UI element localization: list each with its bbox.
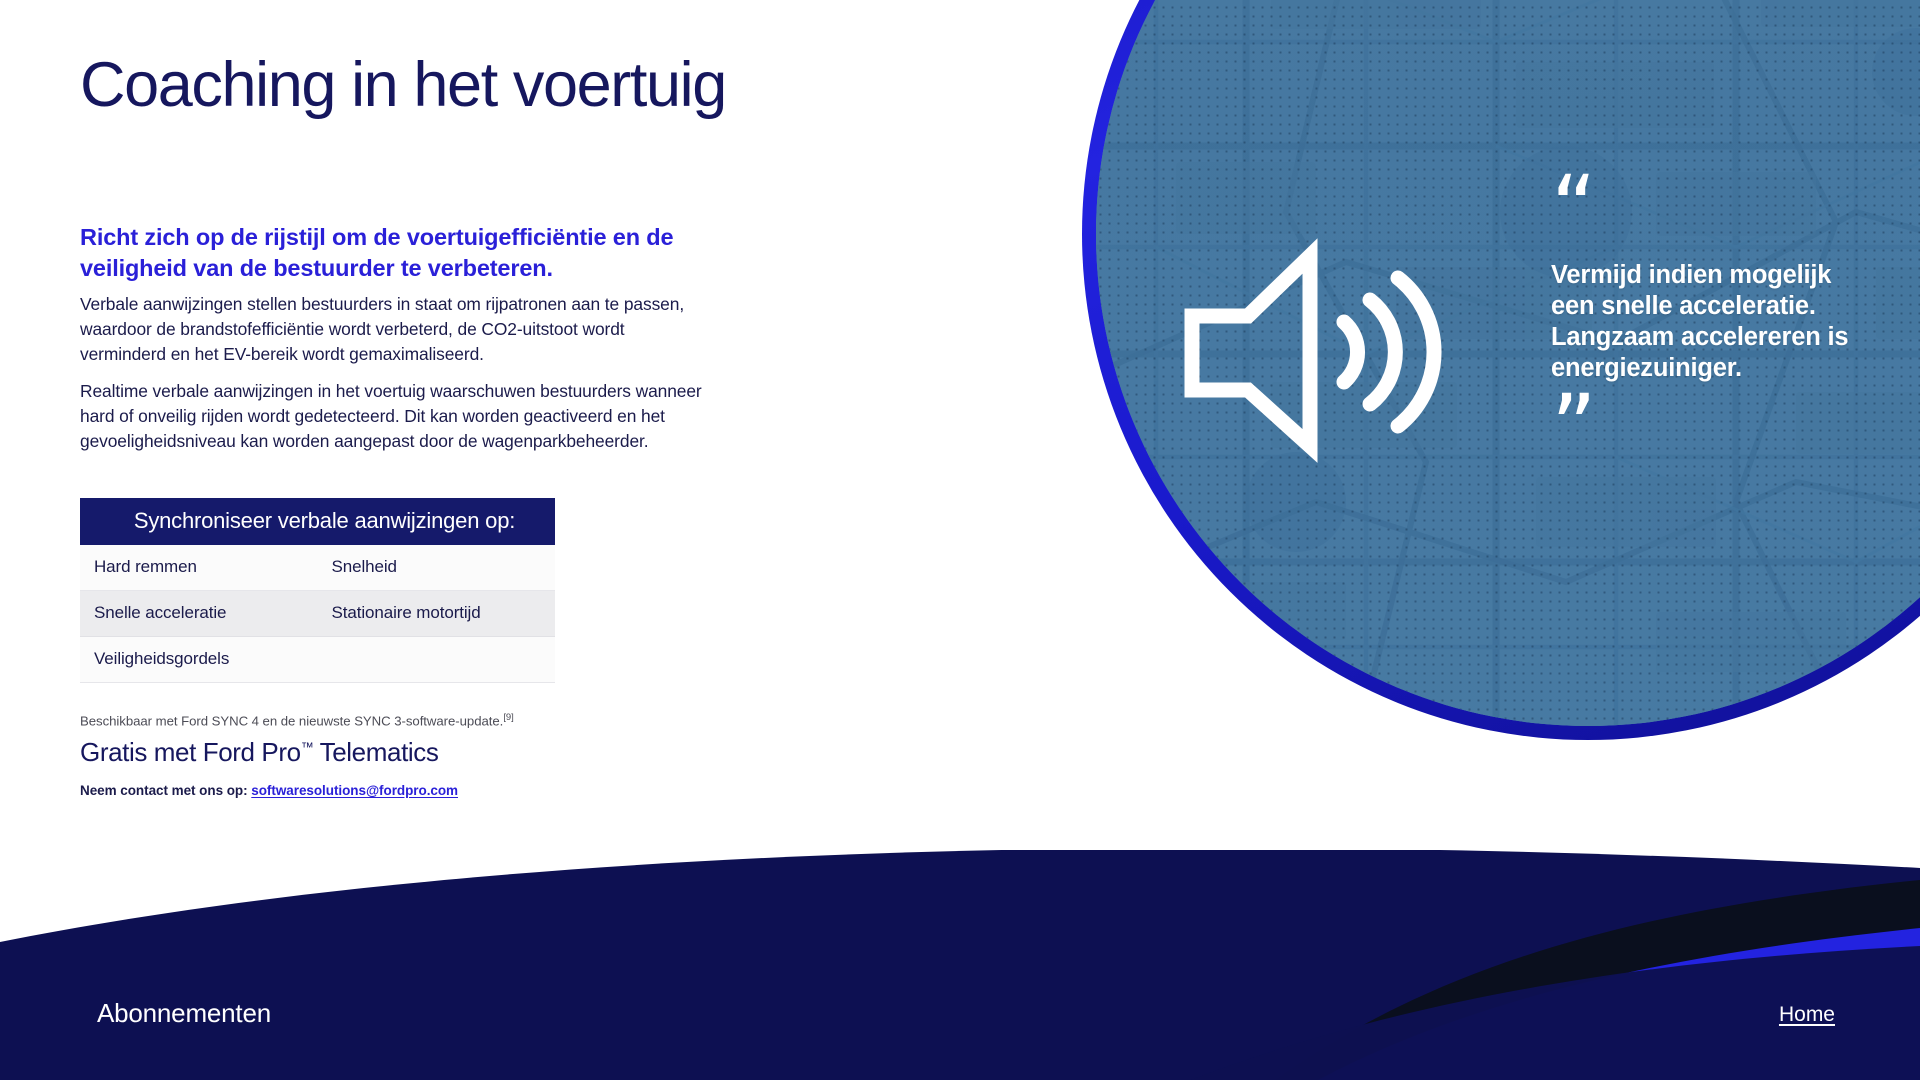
page-root: “ Vermijd indien mogelijk een snelle acc…: [0, 0, 1920, 1080]
availability-footnote: [9]: [503, 712, 513, 723]
quote-close-mark: ”: [1551, 401, 1881, 453]
availability-text: Beschikbaar met Ford SYNC 4 en de nieuws…: [80, 713, 503, 728]
footer: Abonnementen Home: [0, 850, 1920, 1080]
trademark-symbol: ™: [301, 739, 314, 754]
offer-prefix: Gratis met Ford Pro: [80, 737, 301, 767]
table-header: Synchroniseer verbale aanwijzingen op:: [80, 498, 555, 545]
body-paragraph-1: Verbale aanwijzingen stellen bestuurders…: [80, 292, 705, 367]
page-title: Coaching in het voertuig: [80, 52, 726, 119]
table-cell: Snelle acceleratie: [80, 591, 318, 637]
contact-line: Neem contact met ons op: softwaresolutio…: [80, 783, 458, 798]
quote-block: “ Vermijd indien mogelijk een snelle acc…: [1551, 182, 1881, 453]
speaker-volume-icon: [1174, 230, 1442, 470]
footer-shapes: [0, 850, 1920, 1080]
table-row: Veiligheidsgordels: [80, 637, 555, 683]
contact-label: Neem contact met ons op:: [80, 783, 251, 798]
contact-email-link[interactable]: softwaresolutions@fordpro.com: [251, 783, 458, 798]
table-row: Hard remmen Snelheid: [80, 545, 555, 591]
table-cell: [318, 637, 556, 683]
quote-open-mark: “: [1551, 182, 1881, 234]
circle-ring-border: “ Vermijd indien mogelijk een snelle acc…: [1082, 0, 1920, 740]
map-surface: “ Vermijd indien mogelijk een snelle acc…: [1096, 0, 1920, 726]
availability-note: Beschikbaar met Ford SYNC 4 en de nieuws…: [80, 712, 514, 728]
footer-home-link[interactable]: Home: [1779, 1003, 1835, 1027]
offer-headline: Gratis met Ford Pro™ Telematics: [80, 737, 438, 768]
body-paragraph-2: Realtime verbale aanwijzingen in het voe…: [80, 379, 705, 454]
table-cell: Snelheid: [318, 545, 556, 591]
table-row: Snelle acceleratie Stationaire motortijd: [80, 591, 555, 637]
sync-cues-table: Synchroniseer verbale aanwijzingen op: H…: [80, 498, 555, 683]
table-cell: Stationaire motortijd: [318, 591, 556, 637]
page-subheading: Richt zich op de rijstijl om de voertuig…: [80, 222, 720, 283]
footer-subscriptions-label: Abonnementen: [97, 998, 271, 1029]
map-circle-graphic: “ Vermijd indien mogelijk een snelle acc…: [1082, 0, 1920, 740]
quote-text: Vermijd indien mogelijk een snelle accel…: [1551, 260, 1881, 383]
table-cell: Veiligheidsgordels: [80, 637, 318, 683]
offer-suffix: Telematics: [313, 737, 438, 767]
table-cell: Hard remmen: [80, 545, 318, 591]
table-body: Hard remmen Snelheid Snelle acceleratie …: [80, 545, 555, 683]
